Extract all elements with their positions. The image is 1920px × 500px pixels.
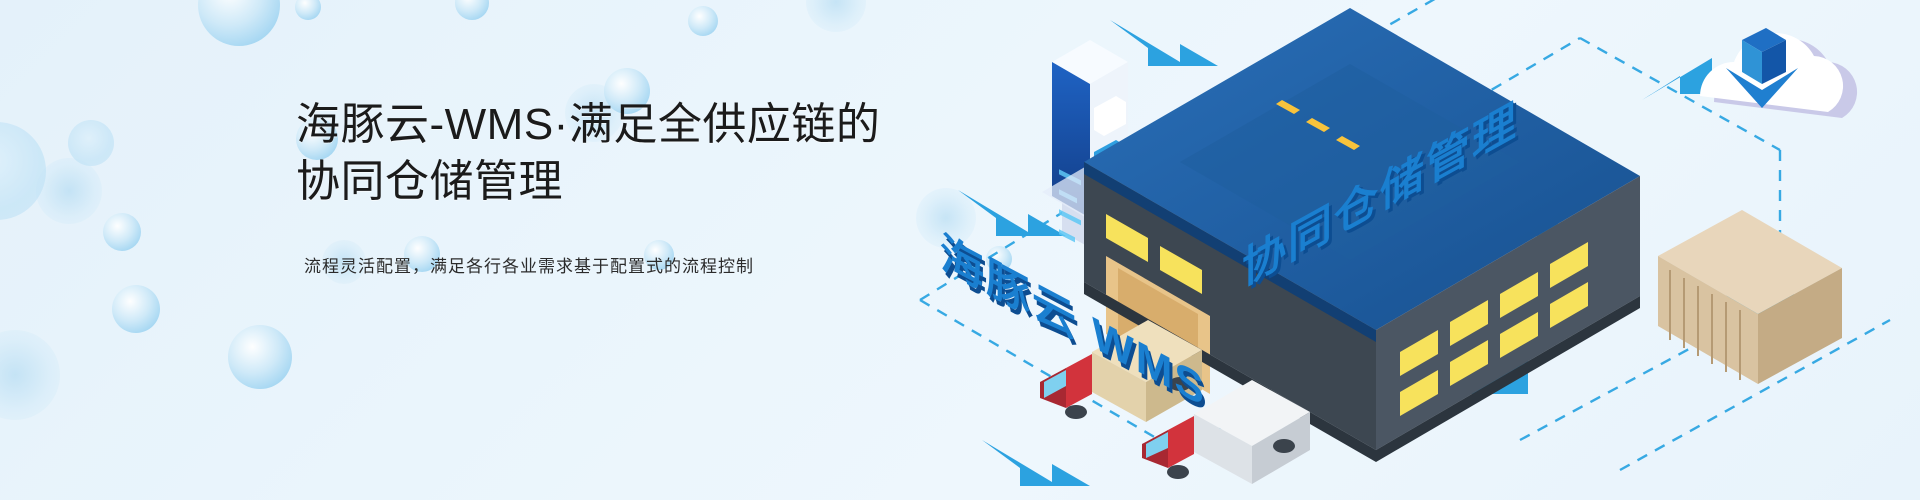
warehouse-icon bbox=[1078, 8, 1640, 500]
hero-subtitle: 流程灵活配置，满足各行各业需求基于配置式的流程控制 bbox=[304, 254, 916, 280]
shipping-container-icon bbox=[1658, 210, 1842, 384]
hero-headline: 海豚云-WMS·满足全供应链的 协同仓储管理 bbox=[296, 96, 916, 210]
cloud-download-icon bbox=[1700, 28, 1857, 118]
bubble-decoration bbox=[0, 330, 60, 420]
bubble-decoration bbox=[295, 0, 321, 20]
wms-hero-banner: 海豚云-WMS·满足全供应链的 协同仓储管理 流程灵活配置，满足各行各业需求基于… bbox=[0, 0, 1920, 500]
bubble-decoration bbox=[688, 6, 718, 36]
bubble-decoration bbox=[36, 158, 102, 224]
warehouse-illustration: 海豚云 WMS 海豚云 WMS 协同仓储管理 协同仓储管理 bbox=[880, 0, 1920, 500]
bubble-decoration bbox=[112, 285, 160, 333]
bubble-decoration bbox=[0, 122, 46, 220]
bubble-decoration bbox=[103, 213, 141, 251]
bubble-decoration bbox=[806, 0, 866, 32]
bubble-decoration bbox=[68, 120, 114, 166]
bubble-decoration bbox=[455, 0, 489, 20]
bubble-decoration bbox=[228, 325, 292, 389]
bubble-decoration bbox=[198, 0, 280, 46]
hero-copy: 海豚云-WMS·满足全供应链的 协同仓储管理 流程灵活配置，满足各行各业需求基于… bbox=[296, 96, 916, 280]
